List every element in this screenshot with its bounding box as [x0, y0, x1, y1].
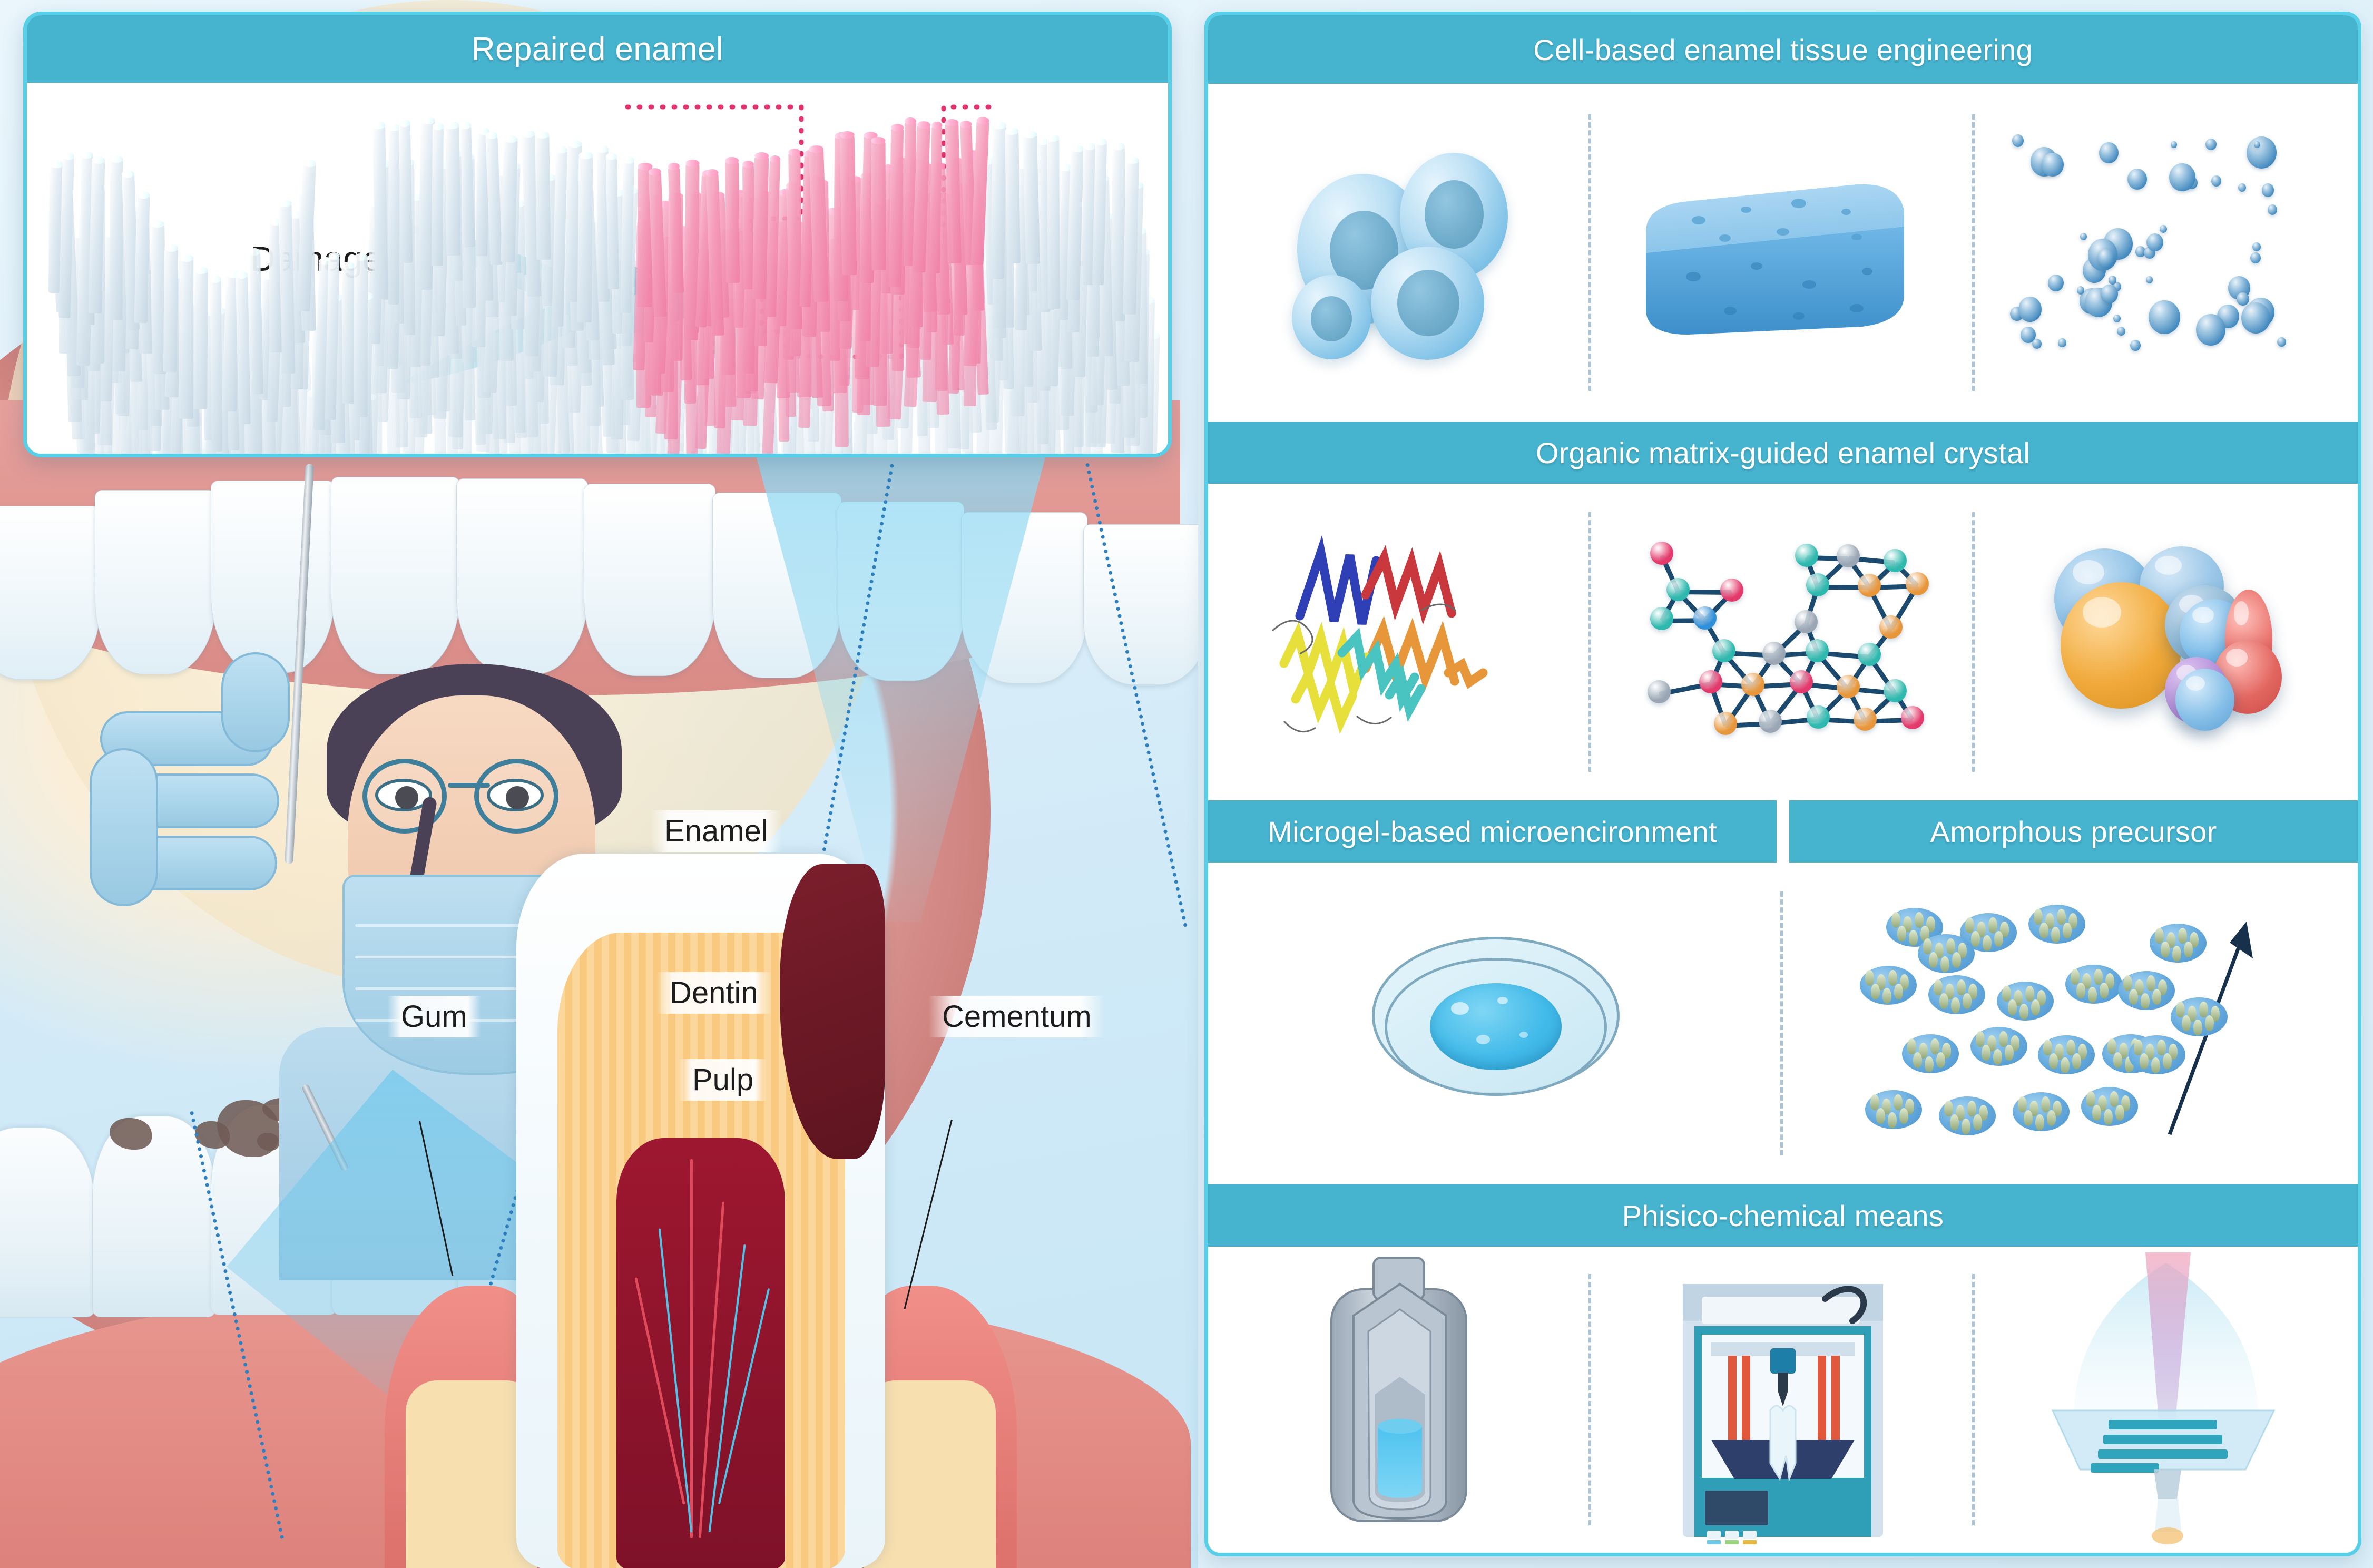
precursor-particle	[1965, 917, 1974, 933]
repaired-enamel-rod	[725, 161, 740, 283]
upper-tooth	[95, 490, 216, 674]
amorphous-cluster	[1970, 1027, 2027, 1066]
molecular-atom	[1858, 574, 1881, 597]
amorphous-cluster	[2118, 971, 2175, 1010]
precursor-particle	[2141, 993, 2150, 1009]
nanoparticle	[2099, 142, 2119, 163]
precursor-particle	[1929, 952, 1938, 968]
upper-tooth	[456, 478, 588, 674]
amorphous-cluster	[2081, 1087, 2138, 1126]
enamel-rod	[577, 155, 592, 323]
repaired-enamel-rod	[840, 135, 857, 275]
header-amorphous-label: Amorphous precursor	[1930, 815, 2217, 849]
sectioned-tooth	[516, 854, 885, 1568]
strategies-panel: Cell-based enamel tissue engineering	[1204, 12, 2361, 1556]
precursor-particle	[2088, 987, 2097, 1003]
precursor-particle	[2019, 1004, 2028, 1020]
upper-tooth	[1083, 524, 1198, 685]
molecular-atom	[1714, 712, 1737, 735]
molecular-atom	[1806, 573, 1829, 596]
precursor-particle	[1940, 956, 1949, 972]
body-physico-chemical	[1208, 1247, 2358, 1553]
enamel-rod	[991, 125, 1006, 278]
precursor-particle	[2107, 1038, 2116, 1054]
precursor-particle	[1894, 1094, 1903, 1110]
nanoparticle	[2241, 302, 2270, 334]
precursor-particle	[1925, 1056, 1934, 1072]
precursor-particle	[1899, 1108, 1908, 1124]
precursor-particle	[2047, 1110, 2056, 1126]
panel-laser-deposition	[1975, 1247, 2358, 1553]
precursor-particle	[2094, 969, 2103, 985]
precursor-particle	[1888, 1112, 1897, 1128]
molecular-atom	[1906, 572, 1929, 595]
pulp-chamber	[616, 1138, 785, 1568]
upper-tooth	[0, 506, 100, 680]
amorphous-cluster	[1939, 1096, 1996, 1135]
precursor-particle	[2072, 1053, 2081, 1069]
precursor-particle	[1971, 931, 1980, 947]
precursor-particle	[1888, 970, 1897, 986]
molecular-atom	[1795, 610, 1818, 633]
precursor-particle	[1876, 1108, 1885, 1124]
precursor-particle	[2049, 1053, 2058, 1069]
precursor-particle	[2076, 983, 2085, 998]
precursor-particle	[1994, 931, 2003, 947]
right-eye	[487, 779, 544, 811]
panel-space-filling-model	[1975, 484, 2358, 800]
molecular-atom	[1699, 670, 1722, 693]
precursor-particle	[2031, 999, 2040, 1015]
enamel-rod	[163, 248, 178, 371]
precursor-particle	[2146, 975, 2155, 991]
precursor-particle	[1962, 1119, 1970, 1134]
nanoparticle	[2117, 327, 2125, 336]
panel-protein-ribbon	[1208, 484, 1591, 800]
header-cell-based-label: Cell-based enamel tissue engineering	[1533, 33, 2033, 67]
precursor-particle	[1957, 979, 1966, 995]
precursor-particle	[2104, 1109, 2113, 1125]
precursor-particle	[2092, 1105, 2101, 1121]
precursor-particle	[1894, 984, 1903, 999]
precursor-particle	[2113, 1052, 2122, 1068]
molecular-atom	[1884, 679, 1907, 702]
stem-cell-4-nucleus	[1311, 296, 1352, 341]
molecular-atom	[1884, 549, 1907, 572]
precursor-particle	[2024, 1110, 2033, 1126]
precursor-particle	[2025, 986, 2034, 1002]
amorphous-cluster	[2065, 965, 2122, 1004]
repaired-enamel-title: Repaired enamel	[472, 31, 723, 68]
nanoparticle	[2238, 183, 2246, 192]
nanoparticle	[2211, 175, 2221, 186]
molecular-atom	[1762, 642, 1786, 665]
enamel-rod	[1047, 138, 1061, 309]
nanoparticle	[2247, 136, 2277, 169]
precursor-particle	[1913, 1052, 1922, 1068]
precursor-particle	[1999, 1031, 2008, 1047]
precursor-particle	[1944, 1101, 1953, 1116]
molecular-atom	[1854, 708, 1877, 731]
header-cell-based: Cell-based enamel tissue engineering	[1208, 15, 2358, 84]
repaired-enamel-card: Repaired enamel Damaged	[23, 12, 1172, 457]
enamel-rod	[1005, 131, 1021, 264]
header-microgel-label: Microgel-based microencironment	[1268, 815, 1717, 849]
precursor-particle	[1934, 979, 1943, 995]
precursor-particle	[1950, 1114, 1959, 1130]
precursor-particle	[1930, 1038, 1939, 1054]
amorphous-cluster	[2171, 997, 2228, 1036]
precursor-particle	[2043, 1040, 2052, 1055]
nanoparticle	[2146, 233, 2163, 251]
nanoparticle	[2262, 183, 2274, 197]
amorphous-cluster	[2150, 924, 2207, 963]
precursor-particle	[2041, 1096, 2050, 1112]
precursor-particle	[2123, 975, 2132, 991]
precursor-particle	[2163, 1053, 2172, 1069]
split-headers: Microgel-based microencironment Amorphou…	[1208, 800, 2358, 863]
precursor-particle	[2205, 1015, 2214, 1031]
nanoparticle	[2277, 337, 2286, 347]
amorphous-cluster	[1918, 934, 1975, 973]
precursor-particle	[2140, 1053, 2149, 1069]
precursor-particle	[2184, 942, 2193, 957]
body-microgel-amorphous	[1208, 863, 2358, 1184]
stem-cell-3-nucleus	[1397, 270, 1459, 336]
precursor-particle	[1967, 1101, 1976, 1116]
enamel-rod	[193, 270, 208, 409]
precursor-particle	[2129, 989, 2138, 1005]
nanoparticle	[2252, 242, 2261, 251]
nanoparticle	[2101, 285, 2118, 303]
precursor-particle	[2151, 1057, 2160, 1073]
precursor-particle	[2086, 1091, 2095, 1107]
molecular-atom	[1837, 675, 1860, 698]
amorphous-cluster	[2013, 1092, 2070, 1131]
right-pupil	[506, 786, 529, 809]
nanoparticle	[2149, 300, 2180, 335]
precursor-particle	[2005, 1045, 2014, 1061]
panel-scaffold	[1591, 84, 1974, 422]
nanoparticle	[2146, 276, 2153, 283]
molecular-atom	[1720, 579, 1743, 602]
label-cementum: Cementum	[928, 996, 1105, 1037]
precursor-particle	[1988, 917, 1997, 933]
nanoparticle	[2196, 314, 2225, 346]
precursor-particle	[2161, 942, 2170, 957]
nanoparticle	[2032, 339, 2042, 349]
molecular-atom	[1648, 680, 1671, 703]
repaired-enamel-header: Repaired enamel	[27, 15, 1168, 83]
enamel-rod	[354, 257, 368, 417]
precursor-particle	[1897, 926, 1906, 942]
molecular-atom	[1858, 643, 1881, 666]
precursor-particle	[2100, 983, 2109, 998]
nanoparticle	[2130, 340, 2140, 351]
header-organic-matrix: Organic matrix-guided enamel crystal	[1208, 422, 2358, 484]
precursor-particle	[1951, 997, 1960, 1013]
molecular-atom	[1693, 606, 1717, 630]
enamel-rods-diagram: Damaged	[27, 83, 1168, 457]
panel-stem-cells	[1208, 84, 1591, 422]
molecular-atom	[1712, 639, 1735, 662]
precursor-particle	[2199, 1002, 2208, 1017]
precursor-particle	[1976, 1031, 1985, 1047]
amorphous-cluster	[1865, 1090, 1922, 1129]
body-organic-matrix	[1208, 484, 2358, 800]
precursor-particle	[2002, 986, 2011, 1002]
molecular-atom	[1795, 544, 1818, 567]
molecular-atom	[1807, 705, 1830, 729]
panel-amorphous-cluster	[1783, 863, 2358, 1184]
precursor-particle	[1973, 1114, 1982, 1130]
precursor-particle	[2057, 909, 2066, 925]
molecular-atom	[1666, 578, 1690, 601]
precursor-particle	[1865, 970, 1874, 986]
upper-tooth	[584, 484, 715, 676]
header-microgel: Microgel-based microencironment	[1208, 800, 1777, 863]
repaired-enamel-rod	[945, 123, 962, 263]
precursor-particle	[2178, 928, 2187, 944]
precursor-particle	[1939, 993, 1948, 1009]
precursor-particle	[1915, 912, 1924, 928]
precursor-particle	[2155, 928, 2164, 944]
panel-molecule-model	[1591, 484, 1974, 800]
precursor-particle	[1871, 984, 1880, 999]
enamel-rod	[445, 125, 461, 256]
panel-3d-printer	[1591, 1247, 1974, 1553]
molecular-atom	[1650, 542, 1673, 565]
precursor-particle	[1946, 938, 1955, 954]
amorphous-cluster	[1997, 982, 2054, 1021]
precursor-particle	[1952, 952, 1961, 968]
precursor-particle	[2051, 927, 2060, 943]
precursor-particle	[2018, 1096, 2027, 1112]
precursor-particle	[2152, 989, 2161, 1005]
repaired-enamel-rod	[871, 141, 886, 270]
nanoparticle	[2058, 338, 2066, 347]
nanoparticle	[2237, 292, 2249, 306]
enamel-rod	[399, 123, 413, 262]
clinical-illustration-panel: Enamel Dentin Pulp Gum Cementum Repaired…	[0, 0, 1198, 1568]
header-gap	[1777, 800, 1789, 863]
precursor-particle	[1936, 1052, 1945, 1068]
upper-tooth	[211, 481, 335, 673]
stem-cell-2-nucleus	[1425, 180, 1484, 249]
header-amorphous: Amorphous precursor	[1789, 800, 2358, 863]
label-pulp: Pulp	[679, 1059, 767, 1101]
amorphous-cluster	[2028, 905, 2085, 944]
panel-autoclave-reactor	[1208, 1247, 1591, 1553]
repaired-enamel-rod	[889, 128, 904, 287]
precursor-particle	[1891, 912, 1900, 928]
precursor-particle	[2182, 1015, 2191, 1031]
body-cell-based	[1208, 84, 2358, 422]
nanoparticle	[2171, 141, 2177, 148]
molecular-atom	[1790, 670, 1813, 693]
molecular-atom	[1806, 639, 1829, 662]
precursor-particle	[2157, 1040, 2166, 1055]
precursor-particle	[1882, 988, 1891, 1004]
precursor-particle	[2039, 923, 2048, 938]
lower-tooth	[0, 1128, 95, 1317]
enamel-rod	[341, 266, 356, 404]
panel-petri-dish	[1208, 863, 1783, 1184]
enamel-rod	[134, 195, 150, 323]
precursor-particle	[2110, 1091, 2119, 1107]
molecular-atom	[1650, 607, 1673, 630]
enamel-rod	[535, 134, 552, 260]
nanoparticle	[2018, 297, 2042, 322]
graphical-abstract: Enamel Dentin Pulp Gum Cementum Repaired…	[0, 0, 2373, 1568]
header-physico-chemical-label: Phisico-chemical means	[1622, 1199, 1944, 1233]
precursor-particle	[1993, 1049, 2002, 1065]
precursor-particle	[2066, 1040, 2075, 1055]
nanoparticle	[2048, 275, 2064, 291]
precursor-particle	[2034, 909, 2043, 925]
molecular-atom	[1741, 673, 1764, 696]
nanoparticle	[2268, 204, 2277, 214]
precursor-particle	[1963, 993, 1972, 1009]
molecular-atom	[1837, 544, 1860, 567]
nanoparticle	[2042, 153, 2063, 177]
glasses-bridge	[448, 783, 490, 788]
precursor-particle	[1907, 1038, 1916, 1054]
header-physico-chemical: Phisico-chemical means	[1208, 1184, 2358, 1247]
enamel-rod	[373, 125, 388, 299]
nanoparticle	[2012, 134, 2024, 147]
enamel-rod	[179, 258, 193, 419]
nanoparticle	[2160, 225, 2167, 233]
label-enamel: Enamel	[651, 810, 782, 852]
label-dentin: Dentin	[656, 972, 772, 1014]
precursor-particle	[1982, 1045, 1990, 1061]
amorphous-cluster	[1860, 966, 1917, 1005]
precursor-particle	[2008, 999, 2017, 1015]
enamel-rod	[210, 279, 222, 452]
precursor-particle	[1870, 1094, 1879, 1110]
precursor-particle	[2134, 1040, 2143, 1055]
precursor-particle	[2176, 1002, 2185, 1017]
nanoparticle	[2169, 163, 2195, 191]
nanoparticle	[2205, 139, 2217, 150]
precursor-particle	[2035, 1114, 2044, 1130]
enamel-rod	[388, 128, 400, 305]
sphere-orange	[2061, 582, 2182, 709]
header-organic-matrix-label: Organic matrix-guided enamel crystal	[1536, 436, 2030, 470]
nanoparticle	[2113, 315, 2121, 322]
sphere-blue-4	[2175, 669, 2234, 731]
enamel-rod	[432, 126, 444, 266]
nanoparticle	[2250, 252, 2261, 263]
amorphous-cluster	[1902, 1034, 1959, 1073]
amorphous-cluster	[1928, 975, 1985, 1014]
precursor-particle	[2063, 923, 2072, 938]
precursor-particle	[1923, 938, 1932, 954]
molecular-atom	[1879, 615, 1903, 639]
left-pupil	[395, 786, 418, 809]
upper-tooth	[331, 477, 460, 674]
amorphous-cluster	[2038, 1035, 2095, 1074]
molecular-atom	[1901, 706, 1924, 729]
precursor-particle	[2193, 1020, 2202, 1035]
nanoparticle	[2127, 169, 2147, 190]
amorphous-cluster	[2129, 1035, 2185, 1074]
enamel-rod	[606, 156, 619, 289]
precursor-particle	[2115, 1105, 2124, 1121]
leader-cementum	[904, 1120, 952, 1309]
enamel-rod	[110, 159, 123, 320]
precursor-particle	[2172, 946, 2181, 962]
panel-nanoparticles	[1975, 84, 2358, 422]
precursor-particle	[2071, 969, 2080, 985]
molecular-atom	[1759, 710, 1782, 733]
label-gum: Gum	[387, 996, 481, 1037]
precursor-particle	[2061, 1057, 2070, 1073]
nanoparticle	[2080, 233, 2087, 240]
precursor-particle	[1983, 935, 1992, 951]
petri-medium	[1430, 983, 1562, 1070]
precursor-particle	[1909, 930, 1918, 946]
